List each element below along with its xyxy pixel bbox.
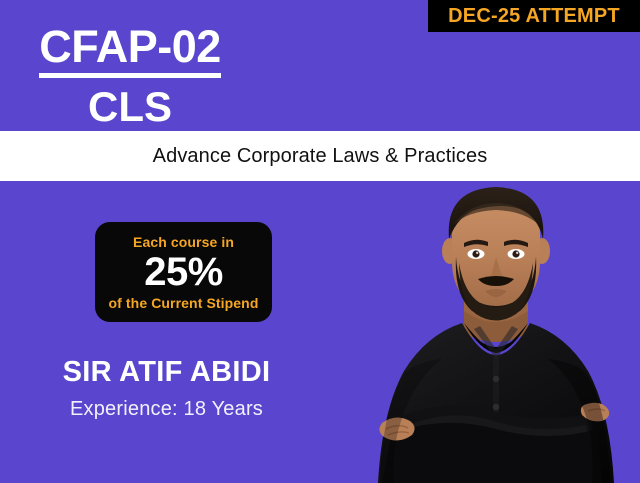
stipend-offer-card: Each course in 25% of the Current Stipen… <box>95 222 272 322</box>
course-promo-poster: DEC-25 ATTEMPT CFAP-02 CLS Advance Corpo… <box>0 0 640 483</box>
instructor-experience: Experience: 18 Years <box>0 398 333 420</box>
course-subtitle-bar: Advance Corporate Laws & Practices <box>0 131 640 181</box>
course-subtitle-text: Advance Corporate Laws & Practices <box>153 145 488 168</box>
attempt-badge: DEC-25 ATTEMPT <box>428 0 640 32</box>
course-short-name: CLS <box>0 85 260 129</box>
instructor-details: SIR ATIF ABIDI Experience: 18 Years <box>0 357 333 420</box>
course-code: CFAP-02 <box>39 24 221 78</box>
stipend-card-bottom-line: of the Current Stipend <box>109 296 259 310</box>
attempt-badge-label: DEC-25 ATTEMPT <box>448 6 620 26</box>
instructor-name: SIR ATIF ABIDI <box>0 357 333 387</box>
stipend-card-percentage: 25% <box>144 252 223 292</box>
course-header: CFAP-02 CLS <box>0 24 260 129</box>
instructor-portrait-image <box>352 183 640 483</box>
stipend-card-top-line: Each course in <box>133 235 234 249</box>
